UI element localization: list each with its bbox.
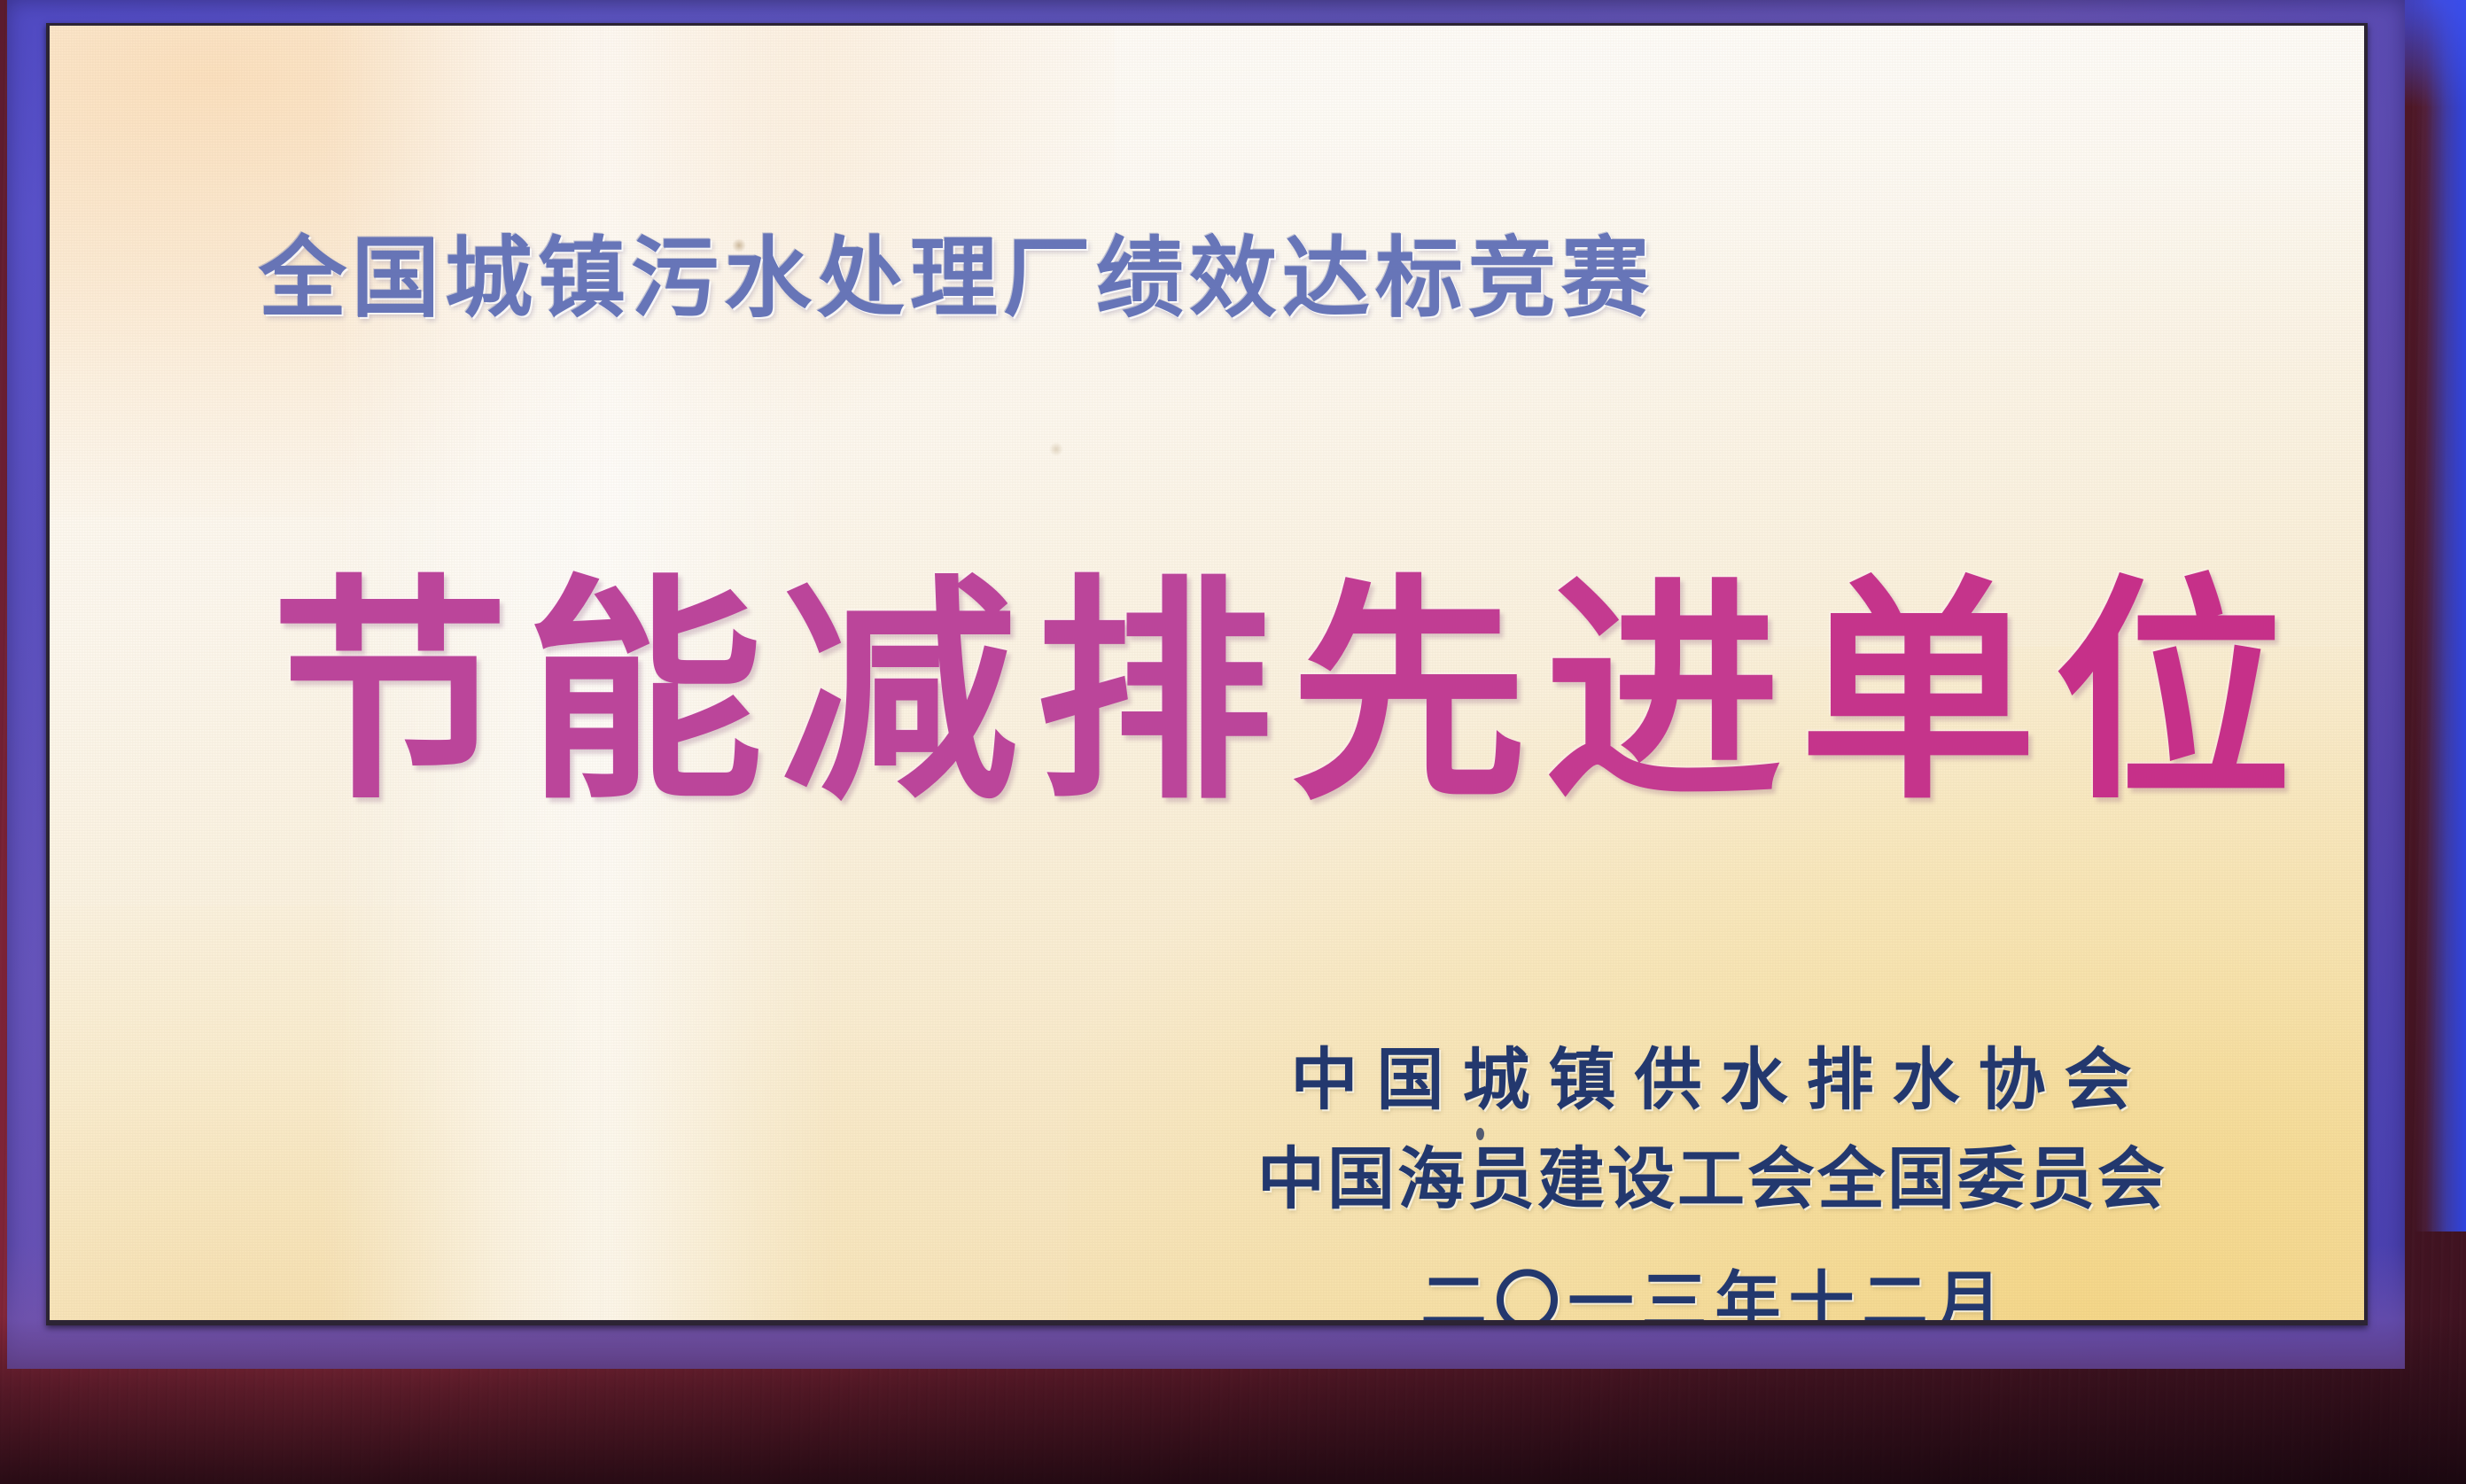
frame-right-blue-glare	[2415, 0, 2466, 1231]
competition-title: 全国城镇污水处理厂绩效达标竞赛	[259, 235, 1654, 322]
signature-block: 中国城镇供水排水协会 中国海员建设工会全国委员会 二〇一三年十二月	[1255, 1046, 2167, 1320]
ink-speck	[1476, 1128, 1484, 1140]
headline-char: 位	[2054, 568, 2291, 820]
headline-char: 单	[1800, 568, 2037, 820]
issue-date: 二〇一三年十二月	[1255, 1270, 2167, 1320]
plaque-face: 全国城镇污水处理厂绩效达标竞赛 节 能 减 排 先 进 单 位 中国城镇供水排水…	[50, 26, 2364, 1320]
issuer-organization-secondary: 中国海员建设工会全国委员会	[1255, 1146, 2167, 1213]
issuer-organization-primary: 中国城镇供水排水协会	[1255, 1046, 2167, 1114]
headline-char: 能	[525, 568, 763, 820]
headline-char: 减	[781, 568, 1018, 820]
plaque-content: 全国城镇污水处理厂绩效达标竞赛 节 能 减 排 先 进 单 位 中国城镇供水排水…	[50, 26, 2364, 1320]
headline-char: 先	[1290, 568, 1528, 820]
headline-char: 节	[271, 568, 509, 820]
award-headline: 节 能 减 排 先 进 单 位	[271, 568, 2291, 820]
headline-char: 排	[1035, 568, 1272, 820]
headline-char: 进	[1544, 568, 1782, 820]
award-plaque-photo: 全国城镇污水处理厂绩效达标竞赛 节 能 减 排 先 进 单 位 中国城镇供水排水…	[0, 0, 2466, 1484]
